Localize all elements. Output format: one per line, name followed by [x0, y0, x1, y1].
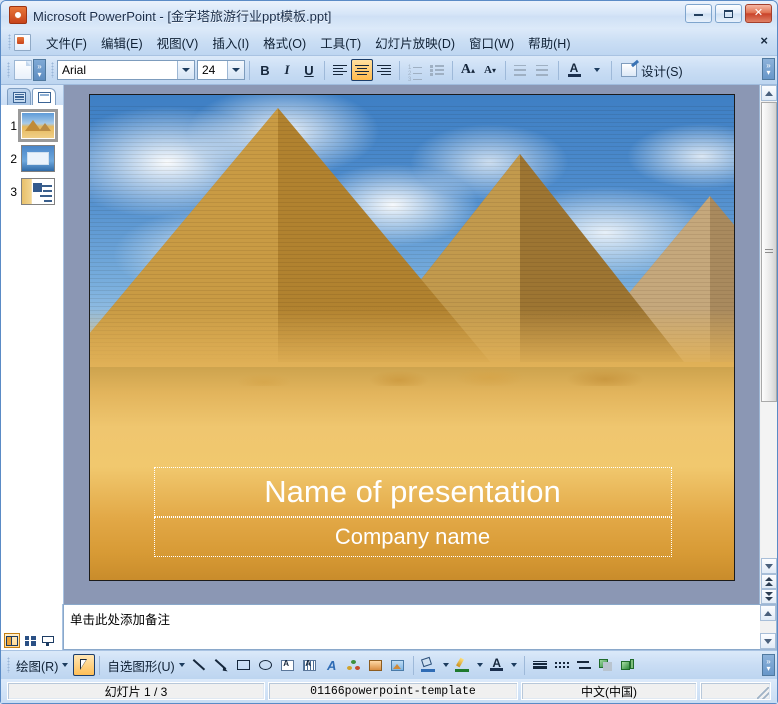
- arrow-icon: [215, 658, 229, 672]
- fill-color-button[interactable]: [418, 654, 440, 676]
- tab-slides[interactable]: [32, 88, 56, 105]
- increase-indent-button[interactable]: [532, 59, 554, 81]
- normal-view-icon: [6, 636, 18, 646]
- line-tool-button[interactable]: [189, 654, 211, 676]
- align-center-button[interactable]: [351, 59, 373, 81]
- toolbar-overflow-left-icon[interactable]: »▾: [33, 59, 46, 81]
- notes-placeholder-text: 单击此处添加备注: [70, 613, 170, 627]
- toolbar-separator-4: [452, 61, 453, 80]
- slide-thumbnail-list: 1 2 3: [1, 105, 63, 604]
- fill-color-dropdown[interactable]: [440, 654, 452, 676]
- menu-item-view[interactable]: 视图(V): [150, 30, 206, 55]
- next-slide-button[interactable]: [761, 589, 777, 604]
- menu-item-file[interactable]: 文件(F): [39, 30, 94, 55]
- three-d-style-button[interactable]: [617, 654, 639, 676]
- line-style-button[interactable]: [529, 654, 551, 676]
- picture-icon: [391, 660, 404, 671]
- shadow-style-button[interactable]: [595, 654, 617, 676]
- chevron-down-icon: [594, 68, 600, 72]
- slide-number-1: 1: [3, 119, 17, 133]
- minimize-button[interactable]: [685, 4, 712, 23]
- maximize-button[interactable]: [715, 4, 742, 23]
- menu-item-window[interactable]: 窗口(W): [462, 30, 521, 55]
- resize-grip-icon[interactable]: [757, 687, 769, 699]
- slide-number-3: 3: [3, 185, 17, 199]
- subtitle-placeholder[interactable]: Company name: [154, 517, 672, 557]
- chevron-down-icon: [477, 663, 483, 667]
- design-icon: [621, 63, 637, 77]
- word-art-button[interactable]: A: [321, 654, 343, 676]
- status-language[interactable]: 中文(中国): [521, 682, 697, 700]
- slide-sorter-view-button[interactable]: [22, 633, 38, 648]
- notes-scroll-up-button[interactable]: [760, 605, 776, 621]
- diagram-icon: [347, 660, 360, 671]
- clip-art-icon: [369, 660, 382, 671]
- notes-row: 单击此处添加备注: [1, 604, 777, 650]
- scroll-up-button[interactable]: [761, 85, 777, 101]
- toolbar-separator-1: [249, 61, 250, 80]
- slide-thumb-image-3: [21, 178, 55, 205]
- numbered-list-icon: 1 2 3: [408, 65, 422, 76]
- workspace: 1 2 3: [1, 85, 777, 604]
- increase-font-icon: A: [461, 62, 471, 78]
- toolbar-options-icon[interactable]: »▾: [762, 58, 775, 80]
- toolbar-separator-2: [324, 61, 325, 80]
- decrease-font-size-button[interactable]: A▾: [479, 59, 501, 81]
- decrease-indent-button[interactable]: [510, 59, 532, 81]
- clip-art-button[interactable]: [365, 654, 387, 676]
- powerpoint-icon: [9, 6, 27, 24]
- decrease-font-icon: A: [484, 64, 492, 76]
- font-color-dropdown[interactable]: [585, 59, 607, 81]
- increase-font-size-button[interactable]: A▴: [457, 59, 479, 81]
- toolbar-separator-3: [399, 61, 400, 80]
- dash-style-icon: [555, 660, 569, 671]
- text-box-icon: [281, 660, 294, 671]
- vertical-text-box-button[interactable]: [299, 654, 321, 676]
- slide-canvas-area: Name of presentation Company name: [64, 85, 759, 604]
- drawing-separator-2: [413, 656, 414, 675]
- new-document-icon[interactable]: [14, 60, 32, 80]
- draw-menu-button[interactable]: 绘图(R): [13, 656, 61, 675]
- slide-thumb-image-2: [21, 145, 55, 172]
- align-right-button[interactable]: [373, 59, 395, 81]
- dash-style-button[interactable]: [551, 654, 573, 676]
- italic-icon: I: [284, 62, 289, 78]
- underline-icon: U: [304, 63, 313, 78]
- title-placeholder-text: Name of presentation: [264, 474, 560, 510]
- title-placeholder[interactable]: Name of presentation: [154, 467, 672, 517]
- toolbar-grip-2[interactable]: [51, 62, 54, 78]
- scrollbar-thumb[interactable]: [761, 102, 777, 402]
- slide-vertical-scrollbar[interactable]: [759, 85, 777, 604]
- scroll-down-button[interactable]: [761, 558, 777, 574]
- current-slide[interactable]: Name of presentation Company name: [89, 94, 735, 581]
- formatting-toolbar: »▾ Arial 24 B I U 1 2 3: [1, 56, 777, 85]
- line-icon: [193, 658, 207, 672]
- bold-icon: B: [260, 63, 269, 78]
- title-bar: Microsoft PowerPoint - [金字塔旅游行业ppt模板.ppt…: [1, 1, 777, 29]
- subtitle-placeholder-text: Company name: [335, 524, 490, 550]
- font-color-icon: A: [568, 63, 581, 77]
- close-button[interactable]: ✕: [745, 4, 772, 23]
- font-name-value: Arial: [62, 63, 86, 77]
- align-center-icon: [355, 65, 369, 76]
- design-button[interactable]: 设计(S): [616, 61, 688, 80]
- chevron-down-icon: [443, 663, 449, 667]
- powerpoint-window: Microsoft PowerPoint - [金字塔旅游行业ppt模板.ppt…: [0, 0, 778, 704]
- toolbar-separator-6: [558, 61, 559, 80]
- diagram-button[interactable]: [343, 654, 365, 676]
- menu-item-insert[interactable]: 插入(I): [205, 30, 256, 55]
- menu-item-tools[interactable]: 工具(T): [313, 30, 368, 55]
- line-color-icon: [455, 658, 470, 672]
- align-right-icon: [377, 65, 391, 76]
- drawing-separator-3: [524, 656, 525, 675]
- font-size-chevron-down-icon[interactable]: [227, 61, 244, 79]
- status-template-name: 01166powerpoint-template: [268, 682, 518, 700]
- drawing-toolbar-options-icon[interactable]: »▾: [762, 654, 775, 676]
- rectangle-icon: [237, 660, 250, 670]
- underline-button[interactable]: U: [298, 59, 320, 81]
- slides-pane: 1 2 3: [1, 85, 64, 604]
- bullets-button[interactable]: [426, 59, 448, 81]
- shadow-style-icon: [599, 659, 612, 671]
- slide-thumbnail-1[interactable]: 1: [1, 112, 63, 139]
- scrollbar-track[interactable]: [761, 402, 777, 558]
- fill-color-icon: [421, 658, 436, 672]
- sand-dunes: [90, 338, 734, 386]
- normal-view-button[interactable]: [4, 633, 20, 648]
- align-left-button[interactable]: [329, 59, 351, 81]
- arrow-style-button[interactable]: [573, 654, 595, 676]
- menu-item-edit[interactable]: 编辑(E): [94, 30, 150, 55]
- status-extra: [700, 682, 771, 700]
- slide-thumbnail-3[interactable]: 3: [1, 178, 63, 205]
- drawing-font-color-dropdown[interactable]: [508, 654, 520, 676]
- select-objects-button[interactable]: [73, 654, 95, 676]
- vertical-text-box-icon: [303, 660, 316, 671]
- draw-chevron-down-icon[interactable]: [62, 663, 68, 667]
- window-title: Microsoft PowerPoint - [金字塔旅游行业ppt模板.ppt…: [33, 6, 331, 25]
- slide-thumbnail-2[interactable]: 2: [1, 145, 63, 172]
- font-color-button[interactable]: A: [563, 59, 585, 81]
- text-box-button[interactable]: [277, 654, 299, 676]
- menu-bar: 文件(F) 编辑(E) 视图(V) 插入(I) 格式(O) 工具(T) 幻灯片放…: [1, 29, 777, 56]
- drawing-separator-1: [99, 656, 100, 675]
- line-color-dropdown[interactable]: [474, 654, 486, 676]
- autoshapes-menu-button[interactable]: 自选图形(U): [104, 656, 177, 675]
- view-buttons: [1, 604, 63, 650]
- font-name-chevron-down-icon[interactable]: [177, 61, 194, 79]
- font-color-icon: A: [489, 658, 504, 672]
- pane-tabs: [1, 85, 63, 105]
- line-color-button[interactable]: [452, 654, 474, 676]
- autoshapes-chevron-down-icon[interactable]: [179, 663, 185, 667]
- arrow-tool-button[interactable]: [211, 654, 233, 676]
- three-d-style-icon: [621, 659, 634, 671]
- align-left-icon: [333, 65, 347, 76]
- arrow-style-icon: [577, 659, 591, 671]
- oval-icon: [259, 660, 272, 670]
- oval-tool-button[interactable]: [255, 654, 277, 676]
- insert-picture-button[interactable]: [387, 654, 409, 676]
- notes-vertical-scrollbar[interactable]: [760, 604, 777, 650]
- slide-number-2: 2: [3, 152, 17, 166]
- notes-scroll-down-button[interactable]: [760, 633, 776, 649]
- drawing-toolbar-grip[interactable]: [7, 657, 10, 673]
- design-label: 设计(S): [641, 61, 683, 80]
- word-art-icon: A: [327, 659, 336, 672]
- toolbar-separator-5: [505, 61, 506, 80]
- font-size-combo[interactable]: 24: [197, 60, 245, 80]
- increase-indent-icon: [536, 65, 550, 76]
- bulleted-list-icon: [430, 65, 444, 76]
- slide-thumb-image-1: [21, 112, 55, 139]
- chevron-down-icon: [511, 663, 517, 667]
- status-bar: 幻灯片 1 / 3 01166powerpoint-template 中文(中国…: [1, 679, 777, 703]
- slide-show-icon: [42, 636, 54, 646]
- menu-item-slideshow[interactable]: 幻灯片放映(D): [368, 30, 462, 55]
- numbering-button[interactable]: 1 2 3: [404, 59, 426, 81]
- previous-slide-button[interactable]: [761, 574, 777, 589]
- decrease-indent-icon: [514, 65, 528, 76]
- italic-button[interactable]: I: [276, 59, 298, 81]
- slide-show-button[interactable]: [40, 633, 56, 648]
- toolbar-separator-7: [611, 61, 612, 80]
- document-icon: [14, 34, 31, 51]
- menu-item-format[interactable]: 格式(O): [256, 30, 313, 55]
- slide-sorter-icon: [25, 636, 36, 646]
- cursor-icon: [80, 659, 89, 672]
- tab-outline[interactable]: [7, 88, 31, 105]
- toolbar-grip-1[interactable]: [7, 62, 10, 78]
- font-name-combo[interactable]: Arial: [57, 60, 195, 80]
- window-controls: ✕: [685, 4, 772, 23]
- slide-editor: Name of presentation Company name: [64, 85, 759, 604]
- menu-item-help[interactable]: 帮助(H): [521, 30, 577, 55]
- drawing-toolbar: 绘图(R) 自选图形(U) A A: [1, 650, 777, 679]
- status-slide-count: 幻灯片 1 / 3: [7, 682, 265, 700]
- close-document-icon[interactable]: ×: [760, 34, 768, 48]
- notes-pane[interactable]: 单击此处添加备注: [63, 604, 760, 650]
- line-style-icon: [533, 660, 547, 671]
- menu-grip[interactable]: [8, 34, 11, 50]
- rectangle-tool-button[interactable]: [233, 654, 255, 676]
- bold-button[interactable]: B: [254, 59, 276, 81]
- drawing-font-color-button[interactable]: A: [486, 654, 508, 676]
- font-size-value: 24: [202, 63, 215, 77]
